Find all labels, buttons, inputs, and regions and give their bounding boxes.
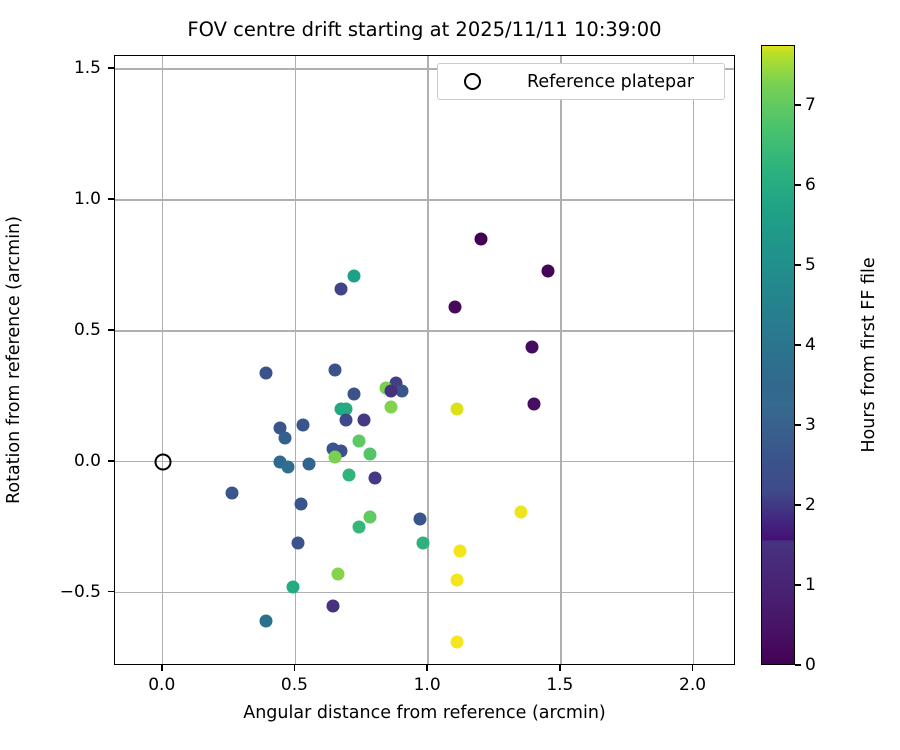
scatter-point[interactable] (385, 385, 398, 398)
scatter-point[interactable] (541, 264, 554, 277)
gridline-horizontal (115, 592, 734, 593)
y-tick (108, 329, 114, 331)
y-tick-label: 1.0 (74, 189, 101, 209)
colorbar-tick (795, 184, 801, 186)
colorbar-tick-label: 7 (805, 95, 816, 115)
x-tick (294, 665, 296, 671)
scatter-point[interactable] (353, 434, 366, 447)
colorbar-tick-label: 6 (805, 175, 816, 195)
scatter-point[interactable] (329, 450, 342, 463)
scatter-point[interactable] (363, 447, 376, 460)
scatter-point[interactable] (334, 283, 347, 296)
scatter-point[interactable] (286, 581, 299, 594)
scatter-point[interactable] (225, 487, 238, 500)
scatter-point[interactable] (281, 461, 294, 474)
scatter-point[interactable] (339, 413, 352, 426)
scatter-point[interactable] (297, 419, 310, 432)
scatter-point[interactable] (331, 568, 344, 581)
scatter-point[interactable] (347, 387, 360, 400)
scatter-point[interactable] (528, 398, 541, 411)
gridline-vertical (162, 56, 163, 664)
x-tick (559, 665, 561, 671)
plot-area[interactable] (114, 55, 735, 665)
gridline-horizontal (115, 461, 734, 462)
scatter-point[interactable] (260, 615, 273, 628)
colorbar-tick (795, 584, 801, 586)
colorbar-tick (795, 424, 801, 426)
scatter-point[interactable] (353, 521, 366, 534)
page-title: FOV centre drift starting at 2025/11/11 … (114, 18, 735, 41)
scatter-point[interactable] (515, 505, 528, 518)
y-tick-label: 0.0 (74, 451, 101, 471)
colorbar-tick-label: 0 (805, 655, 816, 675)
scatter-point[interactable] (294, 497, 307, 510)
scatter-point[interactable] (525, 340, 538, 353)
colorbar-tick-label: 4 (805, 335, 816, 355)
y-tick (108, 198, 114, 200)
x-tick (692, 665, 694, 671)
x-axis-label: Angular distance from reference (arcmin) (114, 703, 735, 723)
reference-platepar-marker-icon (464, 73, 481, 90)
y-tick (108, 591, 114, 593)
colorbar[interactable]: 01234567 (761, 45, 795, 665)
x-tick-label: 0.0 (148, 675, 175, 695)
y-tick-label: 1.5 (74, 58, 101, 78)
colorbar-tick (795, 664, 801, 666)
legend[interactable]: Reference platepar (437, 63, 725, 100)
scatter-point[interactable] (416, 536, 429, 549)
colorbar-tick-label: 3 (805, 415, 816, 435)
y-tick (108, 67, 114, 69)
colorbar-tick (795, 344, 801, 346)
scatter-point[interactable] (385, 400, 398, 413)
gridline-horizontal (115, 199, 734, 200)
colorbar-tick (795, 504, 801, 506)
colorbar-label: Hours from first FF file (859, 257, 879, 452)
colorbar-tick (795, 104, 801, 106)
x-tick-label: 1.5 (546, 675, 573, 695)
colorbar-tick (795, 264, 801, 266)
scatter-point[interactable] (475, 233, 488, 246)
y-axis-label: Rotation from reference (arcmin) (4, 216, 24, 504)
colorbar-tick-label: 5 (805, 255, 816, 275)
colorbar-gradient (761, 45, 795, 665)
y-tick-label: −0.5 (60, 582, 101, 602)
scatter-point[interactable] (347, 269, 360, 282)
scatter-point[interactable] (451, 636, 464, 649)
gridline-vertical (693, 56, 694, 664)
scatter-point[interactable] (369, 471, 382, 484)
scatter-point[interactable] (302, 458, 315, 471)
scatter-point[interactable] (451, 573, 464, 586)
gridline-horizontal (115, 330, 734, 331)
x-tick-label: 1.0 (414, 675, 441, 695)
matplotlib-figure: FOV centre drift starting at 2025/11/11 … (0, 0, 900, 750)
scatter-point[interactable] (454, 544, 467, 557)
y-tick-label: 0.5 (74, 320, 101, 340)
x-tick-label: 2.0 (679, 675, 706, 695)
y-tick (108, 460, 114, 462)
scatter-point[interactable] (260, 366, 273, 379)
scatter-point[interactable] (292, 536, 305, 549)
colorbar-tick-label: 1 (805, 575, 816, 595)
gridline-vertical (295, 56, 296, 664)
scatter-point[interactable] (451, 403, 464, 416)
gridline-vertical (427, 56, 428, 664)
x-tick-label: 0.5 (281, 675, 308, 695)
scatter-point[interactable] (278, 432, 291, 445)
gridline-vertical (560, 56, 561, 664)
scatter-point[interactable] (326, 599, 339, 612)
scatter-point[interactable] (342, 468, 355, 481)
scatter-point[interactable] (363, 510, 376, 523)
x-tick (161, 665, 163, 671)
scatter-point[interactable] (448, 301, 461, 314)
x-tick (426, 665, 428, 671)
scatter-point[interactable] (414, 513, 427, 526)
legend-entry-label: Reference platepar (527, 72, 694, 92)
colorbar-tick-label: 2 (805, 495, 816, 515)
reference-platepar-marker[interactable] (154, 453, 171, 470)
scatter-point[interactable] (358, 413, 371, 426)
scatter-point[interactable] (329, 364, 342, 377)
